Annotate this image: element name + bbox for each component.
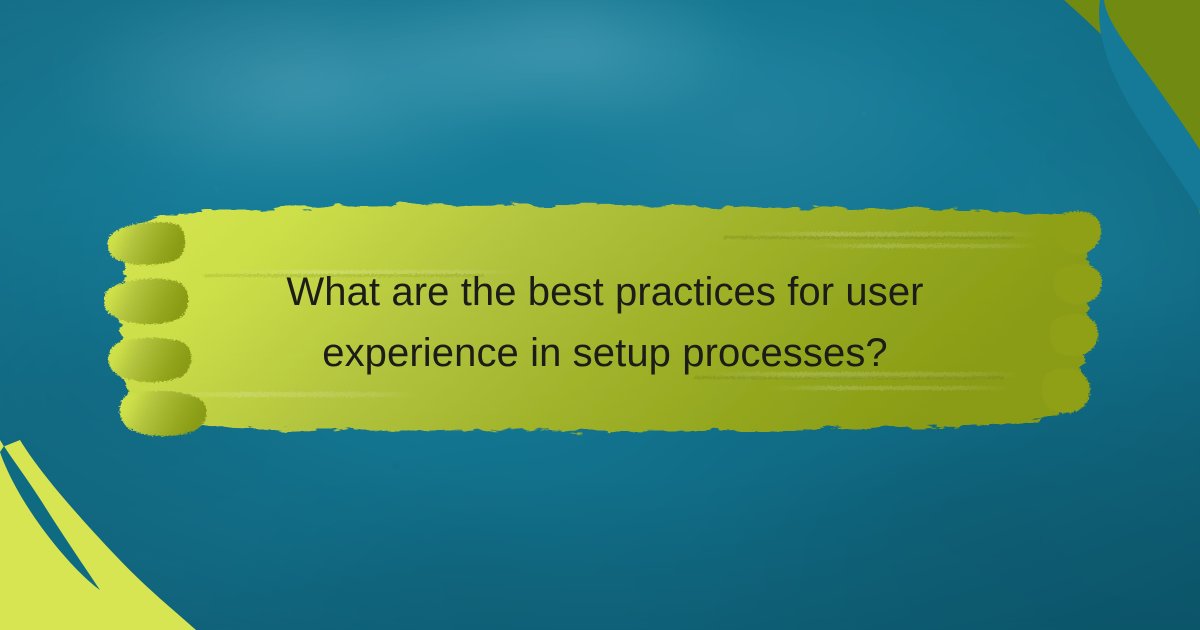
social-card-canvas: What are the best practices for user exp…	[0, 0, 1200, 630]
page-title: What are the best practices for user exp…	[150, 262, 1060, 384]
